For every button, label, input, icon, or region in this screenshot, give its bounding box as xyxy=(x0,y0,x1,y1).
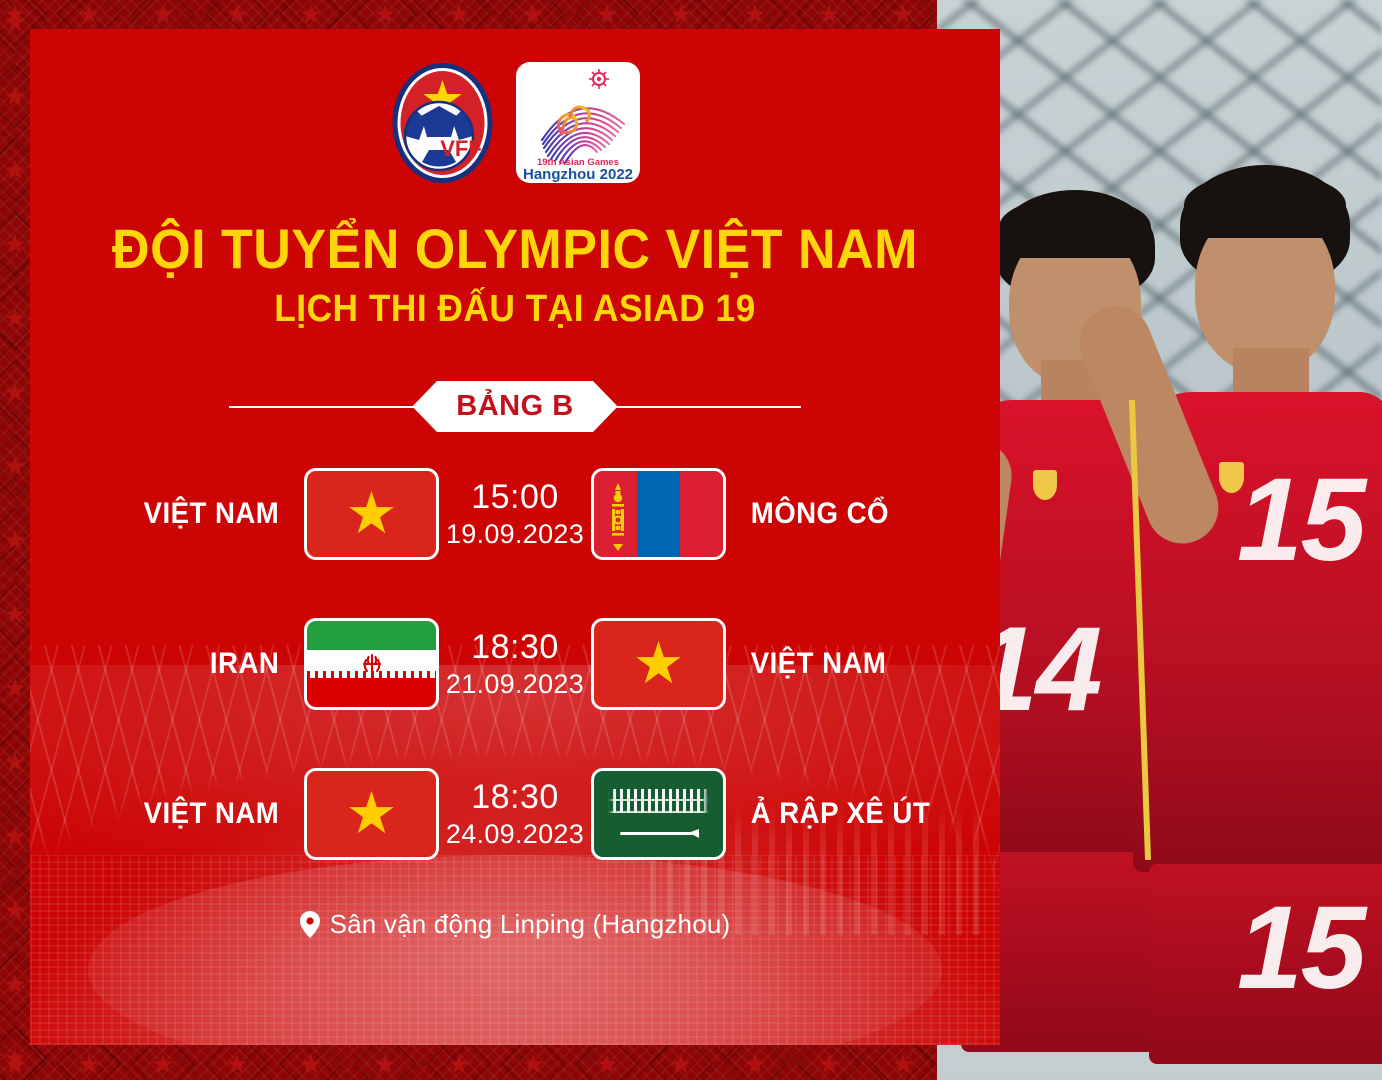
iran-flag xyxy=(304,618,439,710)
group-banner: BẢNG B xyxy=(30,381,1000,432)
schedule-card: VFF xyxy=(30,29,1000,1045)
player-right-number-upper: 15 xyxy=(1237,452,1364,588)
mongolia-stripe-blue xyxy=(637,471,680,557)
home-team-name: IRAN xyxy=(107,647,296,681)
asiad-logo-line2: Hangzhou 2022 xyxy=(522,166,632,183)
vietnam-flag: ★ xyxy=(591,618,726,710)
iran-stripe-red xyxy=(307,678,436,707)
title-block: ĐỘI TUYỂN OLYMPIC VIỆT NAM LỊCH THI ĐẤU … xyxy=(30,217,1000,333)
player-left-crest xyxy=(1033,470,1057,500)
match-row: VIỆT NAM ★ 18:30 24.09.2023 Ả RẬP XÊ ÚT xyxy=(30,759,1000,869)
player-right-fringe xyxy=(1184,172,1346,238)
group-line-left xyxy=(229,406,414,408)
page-subtitle: LỊCH THI ĐẤU TẠI ASIAD 19 xyxy=(64,285,966,333)
player-right-number-lower: 15 xyxy=(1237,880,1364,1016)
mongolia-flag xyxy=(591,468,726,560)
vietnam-star-icon: ★ xyxy=(633,635,685,693)
soyombo-icon xyxy=(608,483,628,551)
away-team-name: Ả RẬP XÊ ÚT xyxy=(734,797,923,831)
match-datetime: 18:30 21.09.2023 xyxy=(439,627,591,701)
players-celebration-photo: 14 15 15 xyxy=(937,0,1382,1080)
mongolia-stripe-red-right xyxy=(680,471,723,557)
location-pin-icon xyxy=(300,911,320,938)
vietnam-star-icon: ★ xyxy=(346,485,398,543)
match-row: VIỆT NAM ★ 15:00 19.09.2023 xyxy=(30,459,1000,569)
player-left-fringe xyxy=(999,196,1151,258)
saudi-shahada-script xyxy=(606,789,711,813)
venue-row: Sân vận động Linping (Hangzhou) xyxy=(30,909,1000,940)
match-time: 18:30 xyxy=(445,627,585,667)
home-team-name: VIỆT NAM xyxy=(107,497,296,531)
vietnam-flag: ★ xyxy=(304,768,439,860)
match-time: 18:30 xyxy=(445,777,585,817)
vff-logo: VFF xyxy=(391,62,494,184)
logo-row: VFF xyxy=(30,62,1000,184)
vietnam-flag: ★ xyxy=(304,468,439,560)
match-date: 21.09.2023 xyxy=(445,667,585,701)
svg-text:VFF: VFF xyxy=(440,136,482,161)
home-team-name: VIỆT NAM xyxy=(107,797,296,831)
match-list: VIỆT NAM ★ 15:00 19.09.2023 xyxy=(30,459,1000,909)
away-team-name: VIỆT NAM xyxy=(734,647,923,681)
saudi-sword-icon xyxy=(620,832,697,835)
hangzhou-2022-logo: 19th Asian Games Hangzhou 2022 xyxy=(516,62,640,183)
poster: ★★★★★★★★★★★★★★★★★★★★★★★★★★★★★★★★★★★★★★★★… xyxy=(0,0,1382,1080)
match-datetime: 15:00 19.09.2023 xyxy=(439,477,591,551)
group-line-right xyxy=(616,406,801,408)
match-date: 24.09.2023 xyxy=(445,817,585,851)
page-title: ĐỘI TUYỂN OLYMPIC VIỆT NAM xyxy=(64,217,966,281)
group-badge: BẢNG B xyxy=(412,381,617,432)
match-date: 19.09.2023 xyxy=(445,517,585,551)
away-team-name: MÔNG CỔ xyxy=(734,497,923,531)
venue-name: Sân vận động Linping (Hangzhou) xyxy=(330,909,731,940)
match-time: 15:00 xyxy=(445,477,585,517)
match-row: IRAN xyxy=(30,609,1000,719)
saudi-arabia-flag xyxy=(591,768,726,860)
vietnam-star-icon: ★ xyxy=(346,785,398,843)
iran-kufic-bottom xyxy=(307,671,436,678)
iran-stripe-green xyxy=(307,621,436,650)
match-datetime: 18:30 24.09.2023 xyxy=(439,777,591,851)
iran-stripe-white xyxy=(307,650,436,679)
